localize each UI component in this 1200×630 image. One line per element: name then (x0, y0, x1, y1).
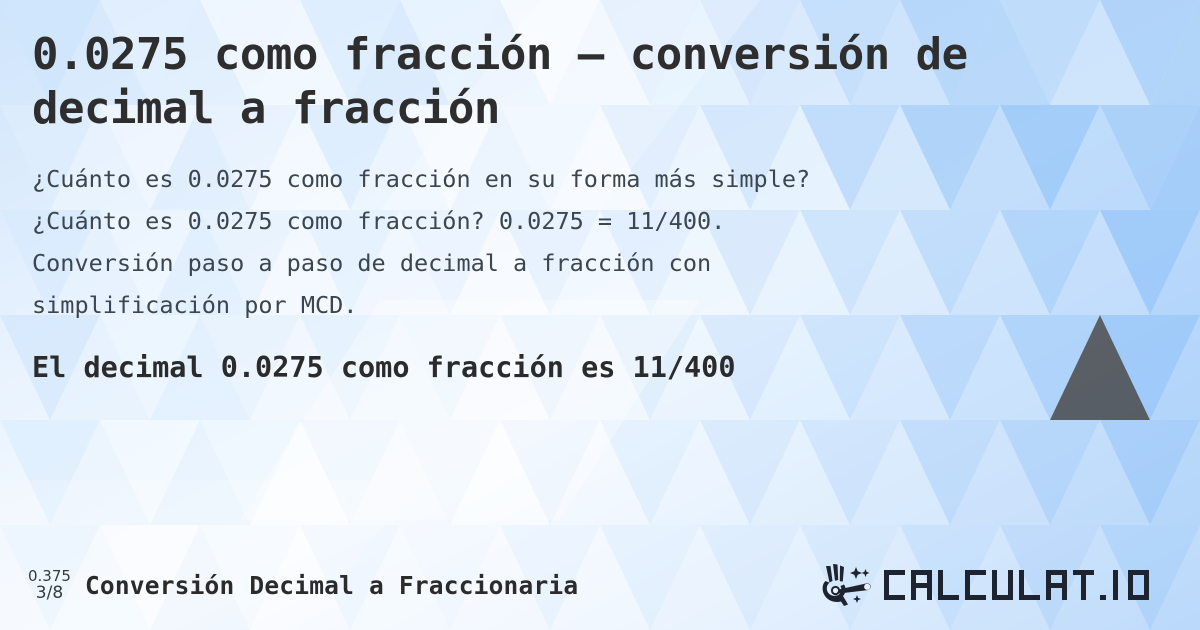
logo-letter-l-1 (938, 570, 959, 600)
logo-letter-o (1128, 570, 1149, 600)
description-line-3: Conversión paso a paso de decimal a frac… (32, 243, 1142, 285)
footer-title: Conversión Decimal a Fraccionaria (85, 571, 578, 600)
logo-letter-a-1 (911, 570, 932, 600)
answer-statement: El decimal 0.0275 como fracción es 11/40… (32, 349, 1168, 386)
badge-decimal: 0.375 (28, 568, 71, 584)
badge-fraction: 3/8 (36, 584, 63, 602)
calculatio-logo[interactable]: CALCULAT.IO (820, 562, 1170, 608)
footer-bar: 0.375 3/8 Conversión Decimal a Fracciona… (0, 544, 1200, 630)
logo-letter-u-1 (992, 570, 1013, 600)
page-title: 0.0275 como fracción – conversión de dec… (32, 28, 1152, 135)
logo-dot (1100, 595, 1106, 600)
fraction-example-badge: 0.375 3/8 (28, 568, 71, 603)
logo-letter-c-2 (965, 570, 986, 600)
description-text: ¿Cuánto es 0.0275 como fracción en su fo… (32, 159, 1142, 326)
share-card: 0.0275 como fracción – conversión de dec… (0, 0, 1200, 630)
logo-letter-a-2 (1046, 570, 1067, 600)
logo-letter-c-1 (884, 570, 905, 600)
content-area: 0.0275 como fracción – conversión de dec… (0, 0, 1200, 630)
description-line-1: ¿Cuánto es 0.0275 como fracción en su fo… (32, 159, 1142, 201)
description-line-2: ¿Cuánto es 0.0275 como fracción? 0.0275 … (32, 201, 1142, 243)
logo-letter-t-1 (1073, 570, 1094, 600)
logo-letter-i (1113, 570, 1118, 600)
logo-letter-l-2 (1019, 570, 1040, 600)
description-line-4: simplificación por MCD. (32, 285, 1142, 327)
hand-magic-wand-icon (823, 564, 871, 606)
